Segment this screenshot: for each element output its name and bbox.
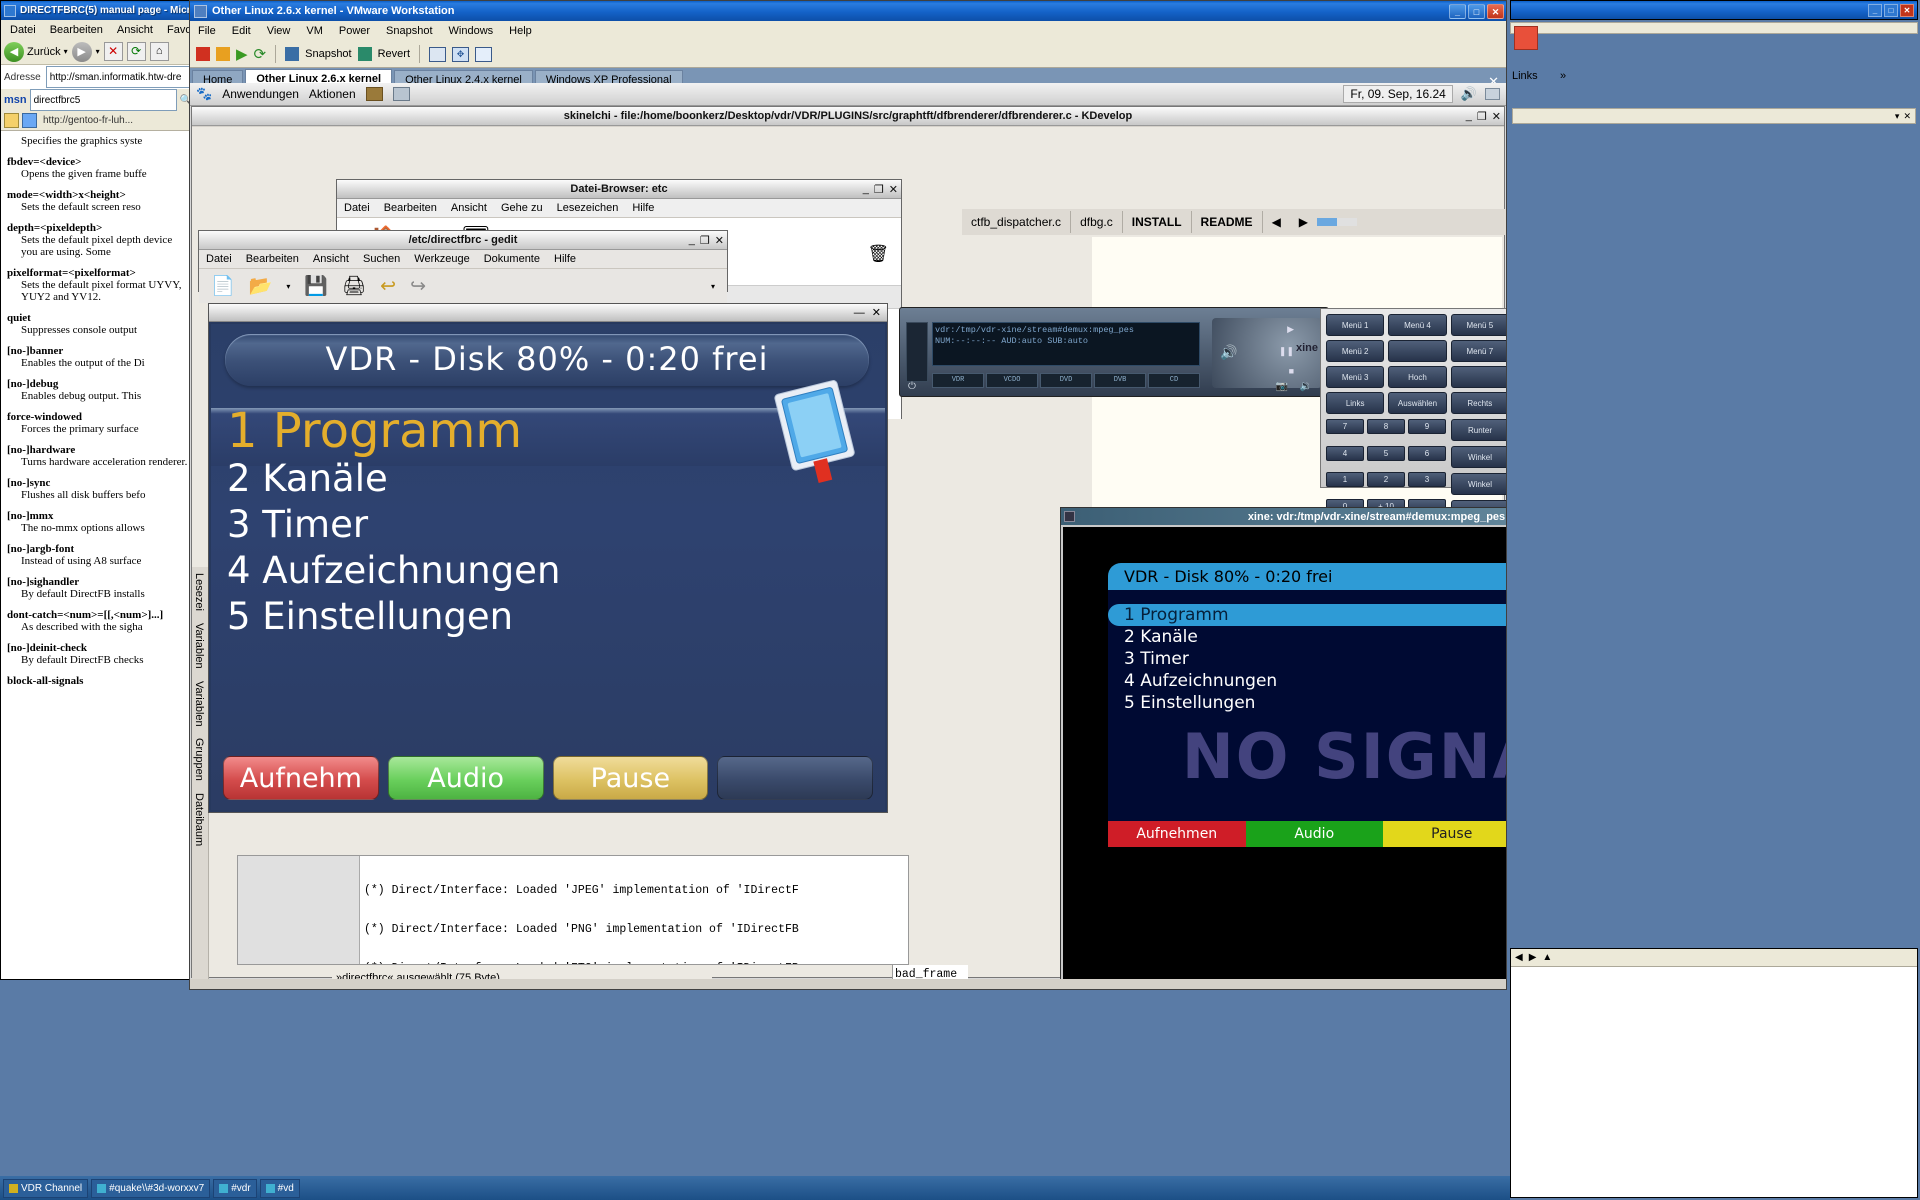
gedit-menu-dokumente[interactable]: Dokumente: [477, 251, 547, 267]
taskbar-item-label: VDR Channel: [21, 1183, 82, 1194]
xine-window-icon: [1064, 511, 1075, 522]
taskbar-item-quake[interactable]: #quake\\#3d-worxxv7: [91, 1179, 210, 1198]
ie-back-button[interactable]: ◀ Zurück ▾: [4, 42, 68, 62]
ie-menu-ansicht[interactable]: Ansicht: [110, 22, 160, 38]
chevron-right-icon[interactable]: »: [1560, 70, 1566, 82]
man-term-1: fbdev=<device>: [7, 156, 189, 168]
right-toolbar-strip[interactable]: [1510, 22, 1918, 34]
msn-search-input[interactable]: directfbrc5: [30, 89, 177, 111]
ie-icon: [4, 5, 16, 17]
bad-frame-log: bad_frame bad_frame bad_frame bad_frame …: [892, 965, 968, 979]
ie-address-row[interactable]: Adresse http://sman.informatik.htw-dre: [1, 65, 195, 89]
file-tab-dfbg[interactable]: dfbg.c: [1071, 211, 1123, 233]
fb-menu-datei[interactable]: Datei: [337, 200, 377, 216]
gedit-menu-ansicht[interactable]: Ansicht: [306, 251, 356, 267]
xine-navigation-pad[interactable]: 🔊 ▶ ❚❚ ■ xine: [1212, 318, 1322, 388]
man-desc-4: Sets the default pixel format UYVY, YUY2…: [7, 279, 189, 303]
filebrowser-window-buttons[interactable]: _ ❐ ✕: [863, 183, 898, 196]
numpad-4[interactable]: 4: [1326, 446, 1364, 461]
close-icon[interactable]: ✕: [889, 183, 898, 196]
numpad-2[interactable]: 2: [1367, 472, 1405, 487]
osd-item-kanaele[interactable]: 2 Kanäle: [1108, 626, 1506, 648]
right-window-bottom[interactable]: ◀ ▶ ▲: [1510, 948, 1918, 1198]
remote-key-winkel-1[interactable]: Winkel: [1451, 446, 1506, 468]
gedit-titlebar: /etc/directfbrc - gedit _ ❐ ✕: [199, 231, 727, 250]
menu-file[interactable]: File: [190, 23, 224, 39]
man-desc-15: By default DirectFB checks: [7, 654, 189, 666]
ie-menubar[interactable]: Datei Bearbeiten Ansicht Favorite: [1, 20, 195, 39]
links-row[interactable]: http://gentoo-fr-luh...: [1, 111, 195, 131]
remote-key-auswaehlen[interactable]: Auswählen: [1388, 392, 1446, 414]
remote-key-menu7[interactable]: Menü 7: [1451, 340, 1506, 362]
gedit-menu-bearbeiten[interactable]: Bearbeiten: [239, 251, 306, 267]
close-icon[interactable]: ✕: [715, 234, 724, 247]
source-vdr[interactable]: VDR: [932, 373, 984, 388]
open-file-icon[interactable]: 📂: [249, 274, 273, 298]
fb-menu-gehe-zu[interactable]: Gehe zu: [494, 200, 550, 216]
dfb-canvas: VDR - Disk 80% - 0:20 frei 1 Pro: [211, 324, 885, 810]
file-tab-install[interactable]: INSTALL: [1123, 211, 1192, 233]
kde-panel[interactable]: 🐾 Anwendungen Aktionen Fr, 09. Sep, 16.2…: [190, 83, 1506, 106]
man-term-10: [no-]sync: [7, 477, 189, 489]
maximize-icon[interactable]: □: [1884, 4, 1898, 17]
remote-key-runter[interactable]: Runter: [1451, 419, 1506, 441]
snapshot-label[interactable]: Snapshot: [305, 48, 351, 60]
fb-menu-hilfe[interactable]: Hilfe: [625, 200, 661, 216]
man-desc-10: Flushes all disk buffers befo: [7, 489, 189, 501]
dfb-menu-item-aufzeichnungen[interactable]: 4 Aufzeichnungen: [227, 548, 875, 594]
output-line-1: (*) Direct/Interface: Loaded 'PNG' imple…: [364, 923, 904, 936]
source-dvd[interactable]: DVD: [1040, 373, 1092, 388]
revert-label[interactable]: Revert: [378, 48, 410, 60]
gedit-menu-datei[interactable]: Datei: [199, 251, 239, 267]
pause-icon[interactable]: ❚❚: [1279, 346, 1294, 357]
numpad-6[interactable]: 6: [1408, 446, 1446, 461]
vmware-menubar[interactable]: File Edit View VM Power Snapshot Windows…: [190, 21, 1506, 41]
menu-help[interactable]: Help: [501, 23, 540, 39]
output-gutter: [238, 856, 360, 964]
menu-snapshot[interactable]: Snapshot: [378, 23, 440, 39]
numpad-5[interactable]: 5: [1367, 446, 1405, 461]
revert-save-icon[interactable]: [358, 47, 372, 61]
kdevelop-titlebar: skinelchi - file:/home/boonkerz/Desktop/…: [192, 107, 1504, 126]
ie-link-2[interactable]: http://gentoo-fr-luh...: [40, 115, 136, 126]
fb-menu-bearbeiten[interactable]: Bearbeiten: [377, 200, 444, 216]
dfb-menu-item-kanaele[interactable]: 2 Kanäle: [227, 456, 875, 502]
gedit-menu-hilfe[interactable]: Hilfe: [547, 251, 583, 267]
chevron-right-icon[interactable]: ▶: [1290, 211, 1317, 233]
home-icon[interactable]: ⌂: [150, 42, 169, 61]
source-dvb[interactable]: DVB: [1094, 373, 1146, 388]
multiple-view-icon[interactable]: [475, 47, 492, 62]
vtab-lesezeichen[interactable]: Lesezei: [192, 567, 206, 617]
kdevelop-file-tabs[interactable]: ctfb_dispatcher.c dfbg.c INSTALL README …: [962, 209, 1506, 235]
vmware-icon: [194, 5, 207, 18]
xine-window-titlebar: xine: vdr:/tmp/vdr-xine/stream#demux:mpe…: [1061, 508, 1506, 525]
source-vcdo[interactable]: VCDO: [986, 373, 1038, 388]
xine-left-controls[interactable]: [906, 322, 928, 382]
remote-control-panel[interactable]: Menü 1 Menü 4 Menü 5 Menü 2 Menü 7 Menü …: [1320, 308, 1506, 488]
chevron-down-icon[interactable]: ▾: [1895, 111, 1900, 122]
xine-stream-line: vdr:/tmp/vdr-xine/stream#demux:mpeg_pes: [935, 325, 1197, 336]
kmenu-icon[interactable]: 🐾: [196, 86, 212, 102]
man-term-16: block-all-signals: [7, 675, 189, 687]
close-icon[interactable]: ✕: [1487, 4, 1504, 19]
remote-key-menu3[interactable]: Menü 3: [1326, 366, 1384, 388]
volume-icon[interactable]: 🔉: [1300, 381, 1312, 392]
remote-key-links[interactable]: Links: [1326, 392, 1384, 414]
output-lines: (*) Direct/Interface: Loaded 'JPEG' impl…: [360, 856, 908, 964]
panel-tray: Fr, 09. Sep, 16.24 🔊: [1343, 85, 1500, 103]
man-desc-1: Opens the given frame buffe: [7, 168, 189, 180]
gedit-toolbar[interactable]: 📄 📂 ▾ 💾 🖨 ↩ ↪ ▾: [199, 269, 727, 303]
output-line-0: (*) Direct/Interface: Loaded 'JPEG' impl…: [364, 884, 904, 897]
forward-icon[interactable]: ▶: [1529, 952, 1537, 963]
menu-windows[interactable]: Windows: [441, 23, 502, 39]
menu-edit[interactable]: Edit: [224, 23, 259, 39]
right-window-top[interactable]: _ □ ✕: [1510, 0, 1918, 20]
remote-key-rechts[interactable]: Rechts: [1451, 392, 1506, 414]
source-cd[interactable]: CD: [1148, 373, 1200, 388]
sidebar-toggle-icon[interactable]: [429, 47, 446, 62]
kdevelop-output-pane[interactable]: (*) Direct/Interface: Loaded 'JPEG' impl…: [237, 855, 909, 965]
man-term-12: [no-]argb-font: [7, 543, 189, 555]
menu-vm[interactable]: VM: [298, 23, 331, 39]
vtab-variablen-1[interactable]: Variablen: [192, 617, 206, 675]
man-desc-0: Specifies the graphics syste: [7, 135, 189, 147]
close-icon[interactable]: ✕: [1903, 111, 1911, 122]
right-bottom-toolbar[interactable]: ◀ ▶ ▲: [1511, 949, 1917, 967]
ie-menu-datei[interactable]: Datei: [3, 22, 43, 38]
windows-taskbar[interactable]: VDR Channel #quake\\#3d-worxxv7 #vdr #vd: [0, 1176, 1510, 1200]
page-icon[interactable]: [22, 113, 37, 128]
remote-key-menu2[interactable]: Menü 2: [1326, 340, 1384, 362]
speaker-icon[interactable]: 🔊: [1220, 344, 1237, 361]
redo-icon[interactable]: ↪: [410, 275, 426, 298]
maximize-icon[interactable]: □: [1468, 4, 1485, 19]
msn-logo: msn: [4, 94, 27, 106]
man-desc-11: The no-mmx options allows: [7, 522, 189, 534]
toolbar-separator-2: [419, 45, 420, 63]
panel-clock: Fr, 09. Sep, 16.24: [1343, 85, 1452, 103]
print-icon[interactable]: 🖨: [342, 274, 366, 298]
filebrowser-title-text: Datei-Browser: etc: [570, 183, 667, 195]
guest-desktop: 🐾 Anwendungen Aktionen Fr, 09. Sep, 16.2…: [190, 83, 1506, 979]
man-desc-6: Enables the output of the Di: [7, 357, 189, 369]
ie-back-label: Zurück: [27, 46, 61, 58]
ie-address-input[interactable]: http://sman.informatik.htw-dre: [46, 66, 193, 88]
toolbar-dropdown-icon[interactable]: ▾: [711, 282, 715, 291]
menu-view[interactable]: View: [259, 23, 299, 39]
dfb-button-red-aufnehmen[interactable]: Aufnehm: [223, 756, 379, 800]
vmware-toolbar[interactable]: ▶ ⟳ Snapshot Revert ✥: [190, 41, 1506, 68]
right-desktop-area: _ □ ✕ Links » ▾ ✕ ◀ ▶ ▲: [1508, 0, 1920, 1200]
man-desc-14: As described with the sigha: [7, 621, 189, 633]
remote-key-menu4[interactable]: Menü 4: [1388, 314, 1446, 336]
xine-status-line: NUM:--:--:-- AUD:auto SUB:auto: [935, 336, 1197, 347]
xine-window-title-text: xine: vdr:/tmp/vdr-xine/stream#demux:mpe…: [1248, 511, 1505, 523]
gedit-window-buttons[interactable]: _ ❐ ✕: [689, 234, 724, 247]
dfb-color-buttons[interactable]: Aufnehm Audio Pause: [223, 756, 873, 800]
xine-video-area[interactable]: VDR - Disk 80% - 0:20 frei Fre 9.09 16:2…: [1063, 527, 1506, 979]
fb-menu-lesezeichen[interactable]: Lesezeichen: [550, 200, 626, 216]
ie-menu-bearbeiten[interactable]: Bearbeiten: [43, 22, 110, 38]
speaker-icon[interactable]: 🔊: [1461, 86, 1477, 102]
osd-button-yellow-pause[interactable]: Pause: [1383, 821, 1506, 847]
numpad-7[interactable]: 7: [1326, 419, 1364, 434]
man-term-9: [no-]hardware: [7, 444, 189, 456]
fullscreen-icon[interactable]: ✥: [452, 47, 469, 62]
man-desc-12: Instead of using A8 surface: [7, 555, 189, 567]
snapshot-save-icon[interactable]: [285, 47, 299, 61]
man-desc-2: Sets the default screen reso: [7, 201, 189, 213]
osd-item-timer[interactable]: 3 Timer: [1108, 648, 1506, 670]
xine-osd: VDR - Disk 80% - 0:20 frei Fre 9.09 16:2…: [1108, 563, 1506, 847]
taskbar-item-label: #vd: [278, 1183, 294, 1194]
minimize-icon[interactable]: _: [863, 183, 869, 196]
mail-icon[interactable]: [1514, 26, 1538, 50]
selection-status-text: »directfbrc« ausgewählt (75 Byte): [332, 970, 712, 979]
man-term-2: mode=<width>x<height>: [7, 189, 189, 201]
osd-header: VDR - Disk 80% - 0:20 frei Fre 9.09 16:2…: [1108, 563, 1506, 590]
tab-action-icon[interactable]: [1317, 218, 1337, 226]
man-desc-7: Enables debug output. This: [7, 390, 189, 402]
gedit-title-text: /etc/directfbrc - gedit: [409, 234, 518, 246]
chevron-down-icon-2[interactable]: ▾: [96, 47, 100, 56]
camera-icon[interactable]: 📷: [1276, 381, 1288, 392]
chat-icon: [219, 1184, 228, 1193]
forward-icon[interactable]: ▶: [72, 42, 92, 62]
man-term-14: dont-catch=<num>=[[,<num>]...]: [7, 609, 189, 621]
refresh-icon[interactable]: ⟳: [127, 42, 146, 61]
dfb-header-text: VDR - Disk 80% - 0:20 frei: [225, 340, 869, 378]
undo-icon[interactable]: ↩: [380, 275, 396, 298]
reset-icon[interactable]: ⟳: [254, 45, 267, 63]
vmware-title-text: Other Linux 2.6.x kernel - VMware Workst…: [212, 5, 1444, 17]
terminal-icon[interactable]: [366, 87, 383, 101]
filebrowser-menubar[interactable]: Datei Bearbeiten Ansicht Gehe zu Lesezei…: [337, 199, 901, 218]
dfb-titlebar: — ✕: [209, 304, 887, 322]
xine-video-window[interactable]: xine: vdr:/tmp/vdr-xine/stream#demux:mpe…: [1060, 507, 1506, 979]
dfb-menu-list[interactable]: 1 Programm 2 Kanäle 3 Timer 4 Aufzeichnu…: [227, 406, 875, 640]
right-window-top-buttons[interactable]: _ □ ✕: [1868, 4, 1914, 17]
man-term-13: [no-]sighandler: [7, 576, 189, 588]
links-label: Links: [1512, 70, 1538, 82]
man-term-11: [no-]mmx: [7, 510, 189, 522]
msn-toolbar[interactable]: msn directfbrc5 🔍: [1, 89, 195, 111]
directfb-vdr-osd-window[interactable]: — ✕ VDR - Disk 80% - 0:20 frei: [208, 303, 888, 813]
right-window-top-titlebar: _ □ ✕: [1511, 1, 1917, 19]
osd-button-green-audio[interactable]: Audio: [1246, 821, 1384, 847]
man-desc-3: Sets the default pixel depth device you …: [7, 234, 189, 258]
close-icon[interactable]: ✕: [872, 306, 881, 319]
numpad-8[interactable]: 8: [1367, 419, 1405, 434]
stop-icon[interactable]: ✕: [104, 42, 123, 61]
man-term-7: [no-]debug: [7, 378, 189, 390]
man-desc-5: Suppresses console output: [7, 324, 189, 336]
gedit-window[interactable]: /etc/directfbrc - gedit _ ❐ ✕ Datei Bear…: [198, 230, 728, 292]
filebrowser-titlebar: Datei-Browser: etc _ ❐ ✕: [337, 180, 901, 199]
xine-control-panel[interactable]: vdr:/tmp/vdr-xine/stream#demux:mpeg_pes …: [899, 307, 1329, 397]
taskbar-item-label: #vdr: [231, 1183, 250, 1194]
new-file-icon[interactable]: 📄: [211, 274, 235, 298]
panel-applications-menu[interactable]: Anwendungen: [222, 87, 299, 101]
gedit-menubar[interactable]: Datei Bearbeiten Ansicht Suchen Werkzeug…: [199, 250, 727, 269]
trash-icon[interactable]: 🗑: [867, 244, 889, 264]
right-secondary-toolbar[interactable]: ▾ ✕: [1512, 108, 1916, 124]
remote-key-winkel-2[interactable]: Winkel: [1451, 473, 1506, 495]
open-dropdown-icon[interactable]: ▾: [286, 282, 290, 291]
man-term-15: [no-]deinit-check: [7, 642, 189, 654]
chevron-left-icon[interactable]: ◀: [1263, 211, 1290, 233]
osd-button-red-aufnehmen[interactable]: Aufnehmen: [1108, 821, 1246, 847]
man-term-4: pixelformat=<pixelformat>: [7, 267, 189, 279]
minimize-icon[interactable]: _: [1449, 4, 1466, 19]
up-icon[interactable]: ▲: [1542, 952, 1552, 963]
gedit-menu-suchen[interactable]: Suchen: [356, 251, 407, 267]
ie-toolbar[interactable]: ◀ Zurück ▾ ▶ ▾ ✕ ⟳ ⌂: [1, 39, 195, 65]
back-icon: ◀: [4, 42, 24, 62]
osd-item-einstellungen[interactable]: 5 Einstellungen: [1108, 692, 1506, 714]
remote-key-hoch[interactable]: Hoch: [1388, 366, 1446, 388]
osd-color-buttons[interactable]: Aufnehmen Audio Pause: [1108, 821, 1506, 847]
numpad-1[interactable]: 1: [1326, 472, 1364, 487]
close-icon[interactable]: ✕: [1900, 4, 1914, 17]
man-desc-13: By default DirectFB installs: [7, 588, 189, 600]
display-icon[interactable]: [393, 87, 410, 101]
man-term-8: force-windowed: [7, 411, 189, 423]
ie-titlebar: DIRECTFBRC(5) manual page - Microso: [1, 1, 195, 20]
maximize-icon[interactable]: ❐: [874, 183, 884, 196]
osd-header-left: VDR - Disk 80% - 0:20 frei: [1124, 567, 1332, 586]
ie-title-text: DIRECTFBRC(5) manual page - Microso: [20, 5, 192, 16]
manpage-content: Specifies the graphics syste fbdev=<devi…: [1, 131, 195, 691]
menu-power[interactable]: Power: [331, 23, 378, 39]
dfb-button-blue-empty[interactable]: [717, 756, 873, 800]
maximize-icon[interactable]: ❐: [1477, 110, 1487, 123]
man-desc-8: Forces the primary surface: [7, 423, 189, 435]
minimize-icon[interactable]: _: [1868, 4, 1882, 17]
fb-menu-ansicht[interactable]: Ansicht: [444, 200, 494, 216]
tv-icon: [9, 1184, 18, 1193]
remote-key-menu5[interactable]: Menü 5: [1451, 314, 1506, 336]
chevron-down-icon[interactable]: ▾: [64, 47, 68, 56]
back-icon[interactable]: ◀: [1515, 952, 1523, 963]
dfb-button-yellow-pause[interactable]: Pause: [553, 756, 709, 800]
taskbar-item-vdr-channel[interactable]: VDR Channel: [3, 1179, 88, 1198]
xine-brand: xine: [1296, 342, 1318, 354]
remote-key-grid[interactable]: Menü 1 Menü 4 Menü 5 Menü 2 Menü 7 Menü …: [1321, 309, 1506, 419]
output-line-2: (*) Direct/Interface: Loaded 'FT2' imple…: [364, 962, 904, 964]
minimize-icon[interactable]: _: [1466, 110, 1472, 123]
stop-icon[interactable]: ■: [1289, 366, 1294, 376]
vtab-dateibaum[interactable]: Dateibaum: [192, 787, 206, 852]
man-term-6: [no-]banner: [7, 345, 189, 357]
save-icon[interactable]: 💾: [304, 274, 328, 298]
close-icon[interactable]: ✕: [1492, 110, 1501, 123]
man-desc-9: Turns hardware acceleration renderer.: [7, 456, 189, 468]
internet-explorer-window[interactable]: DIRECTFBRC(5) manual page - Microso Date…: [0, 0, 196, 980]
folder-icon[interactable]: [4, 113, 19, 128]
osd-item-programm[interactable]: 1 Programm: [1108, 604, 1506, 626]
man-term-5: quiet: [7, 312, 189, 324]
no-signal-text: NO SIGNAL: [1108, 714, 1506, 811]
xine-source-buttons[interactable]: VDR VCDO DVD DVB CD: [932, 373, 1200, 388]
vmware-titlebar: Other Linux 2.6.x kernel - VMware Workst…: [190, 1, 1506, 21]
osd-item-aufzeichnungen[interactable]: 4 Aufzeichnungen: [1108, 670, 1506, 692]
maximize-icon[interactable]: ❐: [700, 234, 710, 247]
xine-display: vdr:/tmp/vdr-xine/stream#demux:mpeg_pes …: [932, 322, 1200, 366]
tab-list-icon[interactable]: [1337, 218, 1357, 226]
play-icon[interactable]: ▶: [236, 45, 248, 63]
panel-actions-menu[interactable]: Aktionen: [309, 87, 356, 101]
chat-icon: [266, 1184, 275, 1193]
numpad-9[interactable]: 9: [1408, 419, 1446, 434]
gedit-menu-werkzeuge[interactable]: Werkzeuge: [407, 251, 476, 267]
remote-key-empty2[interactable]: [1451, 366, 1506, 388]
dfb-menu-item-timer[interactable]: 3 Timer: [227, 502, 875, 548]
stop-icon[interactable]: [196, 47, 210, 61]
vmware-window-buttons[interactable]: _ □ ✕: [1449, 4, 1504, 19]
taskbar-item-vd[interactable]: #vd: [260, 1179, 300, 1198]
minimize-icon[interactable]: _: [689, 234, 695, 247]
kdevelop-left-toolbar[interactable]: Lesezei Variablen Variablen Gruppen Date…: [192, 567, 209, 979]
file-tab-ctfb-dispatcher[interactable]: ctfb_dispatcher.c: [962, 211, 1071, 233]
kdevelop-title-text: skinelchi - file:/home/boonkerz/Desktop/…: [564, 110, 1132, 122]
chat-icon: [97, 1184, 106, 1193]
remote-key-menu1[interactable]: Menü 1: [1326, 314, 1384, 336]
numpad-3[interactable]: 3: [1408, 472, 1446, 487]
osd-body: 1 Programm 2 Kanäle 3 Timer 4 Aufzeichnu…: [1108, 590, 1506, 821]
man-term-3: depth=<pixeldepth>: [7, 222, 189, 234]
dfb-button-green-audio[interactable]: Audio: [388, 756, 544, 800]
bad-frame-0: bad_frame: [895, 967, 966, 979]
dfb-menu-item-einstellungen[interactable]: 5 Einstellungen: [227, 594, 875, 640]
dfb-menu-item-programm[interactable]: 1 Programm: [227, 406, 875, 456]
kdevelop-window-buttons[interactable]: _ ❐ ✕: [1466, 110, 1501, 123]
ie-address-label: Adresse: [1, 72, 44, 83]
file-tab-readme[interactable]: README: [1192, 211, 1263, 233]
taskbar-item-vdr[interactable]: #vdr: [213, 1179, 256, 1198]
vtab-gruppen[interactable]: Gruppen: [192, 732, 206, 787]
dfb-header-bar: VDR - Disk 80% - 0:20 frei: [225, 334, 869, 386]
remote-key-empty1[interactable]: [1388, 340, 1446, 362]
toolbar-separator-1: [275, 45, 276, 63]
play-icon[interactable]: ▶: [1287, 324, 1294, 335]
taskbar-item-label: #quake\\#3d-worxxv7: [109, 1183, 204, 1194]
monitor-icon[interactable]: [1485, 88, 1500, 100]
minimize-icon[interactable]: —: [854, 307, 865, 319]
vtab-variablen-2[interactable]: Variablen: [192, 675, 206, 733]
power-icon[interactable]: ⏻: [908, 381, 916, 392]
pause-icon[interactable]: [216, 47, 230, 61]
